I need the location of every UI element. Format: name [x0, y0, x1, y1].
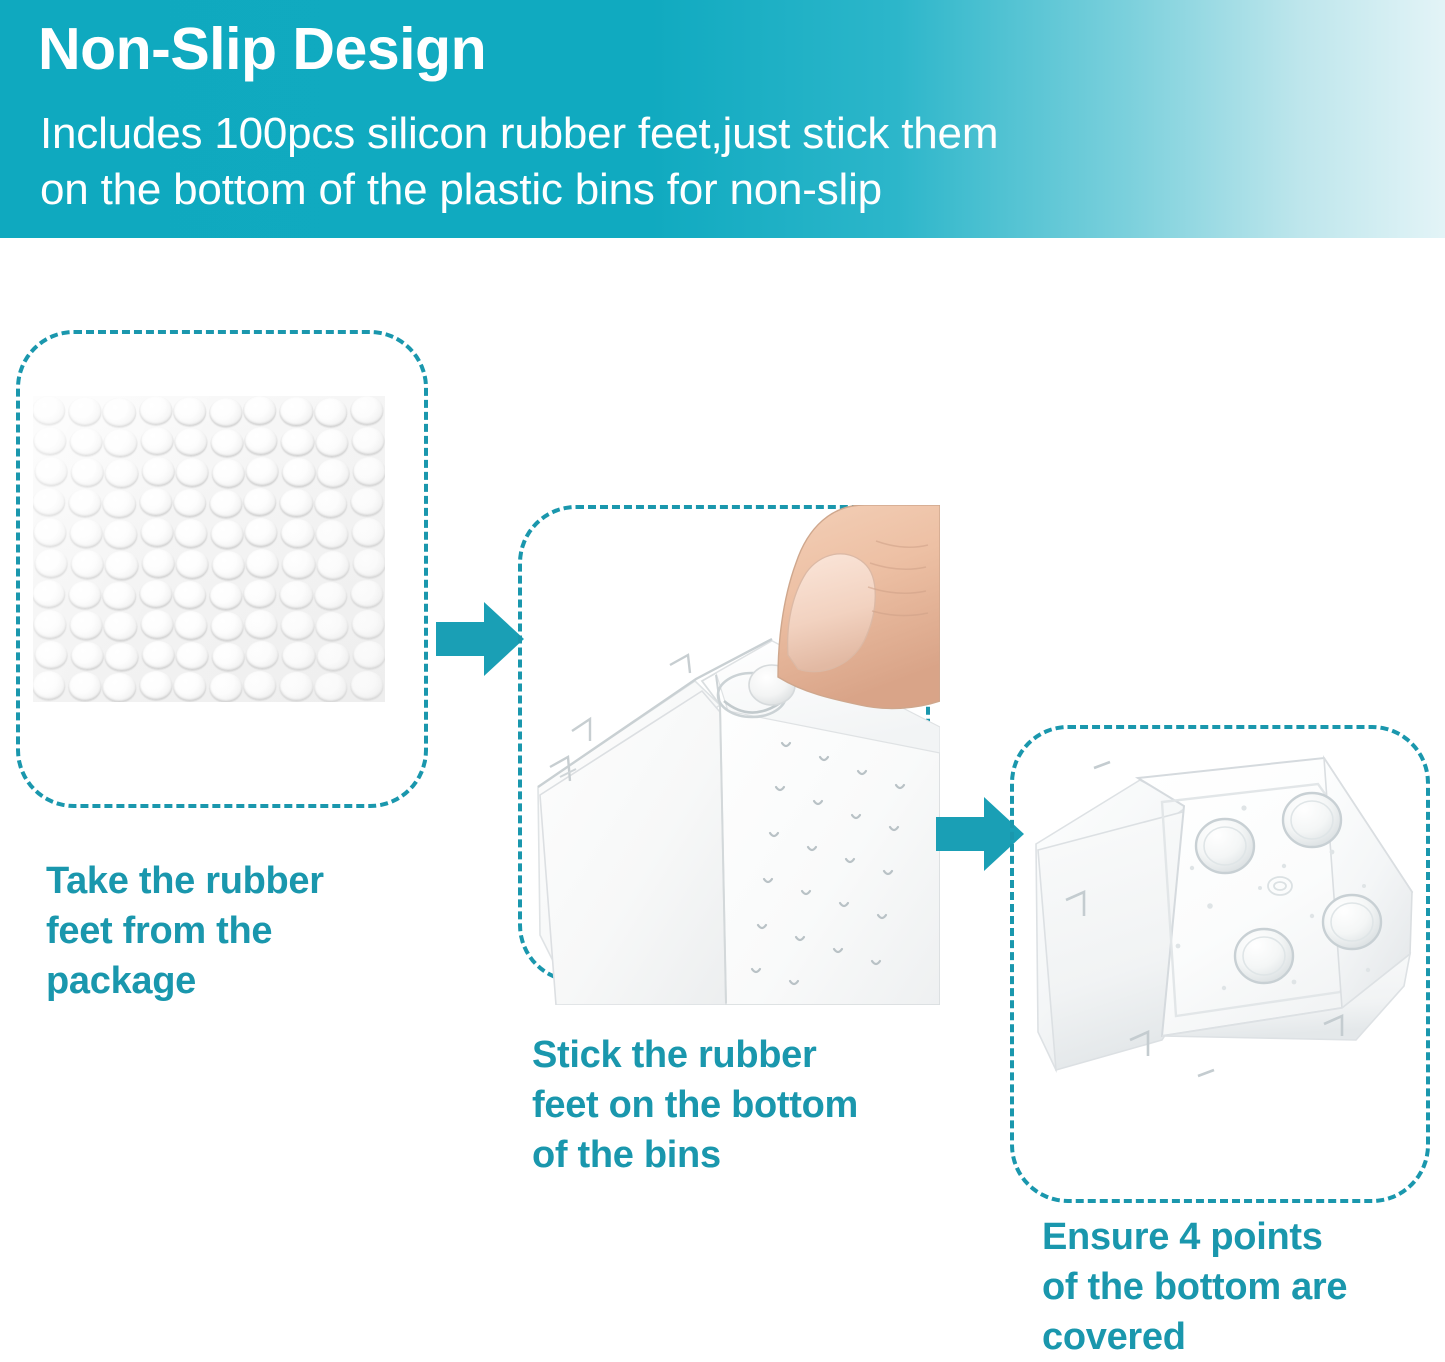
rubber-foot-dot	[280, 489, 313, 518]
rubber-foot-dot	[316, 551, 349, 580]
rubber-foot-dot	[209, 398, 242, 427]
rubber-foot-dot	[175, 642, 208, 671]
rubber-foot-dot	[33, 580, 65, 609]
rubber-foot-dot	[173, 581, 206, 610]
rubber-foot-dot	[314, 490, 347, 519]
rubber-foot-dot	[212, 459, 245, 488]
rubber-foot-dot	[35, 457, 68, 486]
rubber-foot-dot	[350, 580, 383, 609]
rubber-foot-dot	[173, 672, 206, 701]
rubber-foot-dot	[281, 611, 314, 640]
rubber-foot-dot	[69, 489, 102, 518]
rubber-foot-dot	[35, 641, 68, 670]
rubber-foot-dot	[105, 643, 138, 672]
rubber-foot-dot	[139, 396, 172, 425]
rubber-foot-dot	[314, 398, 347, 427]
step-1-caption-line-3: package	[46, 956, 446, 1006]
rubber-foot-dot	[71, 642, 104, 671]
rubber-foot-dot	[243, 671, 276, 700]
rubber-foot-dot	[139, 488, 172, 517]
rubber-foot-dot	[353, 641, 385, 670]
rubber-foot-dot	[209, 673, 242, 702]
rubber-foot-dot	[103, 490, 136, 519]
rubber-foot-dot	[211, 612, 244, 641]
rubber-foot-dot	[282, 642, 315, 671]
step-2-caption-line-2: feet on the bottom	[532, 1080, 962, 1130]
rubber-foot-dot	[212, 551, 245, 580]
banner-subtitle: Includes 100pcs silicon rubber feet,just…	[40, 106, 998, 218]
rubber-foot-dot	[314, 582, 347, 611]
rubber-foot-dot	[350, 671, 383, 700]
rubber-foot-dot	[104, 612, 137, 641]
step-2-caption-line-3: of the bins	[532, 1130, 962, 1180]
bin-with-four-feet-image	[1012, 740, 1432, 1200]
step-3-caption: Ensure 4 points of the bottom are covere…	[1042, 1212, 1445, 1362]
step-3-caption-line-1: Ensure 4 points	[1042, 1212, 1445, 1262]
rubber-foot-dot	[141, 457, 174, 486]
hand-sticking-foot-on-bin-image	[520, 505, 940, 1005]
rubber-foot-dot	[280, 581, 313, 610]
rubber-foot-dot	[246, 549, 279, 578]
rubber-foot-dot	[140, 427, 173, 456]
step-2-caption: Stick the rubber feet on the bottom of t…	[532, 1030, 962, 1180]
rubber-foot-dot	[70, 428, 103, 457]
rubber-foot-dot	[139, 580, 172, 609]
rubber-foot-dot	[103, 673, 136, 702]
arrow-step-1-to-2-icon	[436, 600, 524, 678]
rubber-foot-dot	[353, 549, 385, 578]
rubber-foot-dot	[69, 397, 102, 426]
rubber-foot-dot	[211, 520, 244, 549]
rubber-foot-dot	[175, 458, 208, 487]
rubber-foot-dot	[282, 458, 315, 487]
rubber-foot-dot	[243, 396, 276, 425]
rubber-foot-dot	[281, 519, 314, 548]
rubber-foot-dot	[103, 398, 136, 427]
bin-left-face	[538, 681, 732, 1005]
rubber-foot-dot	[140, 518, 173, 547]
rubber-foot-dot	[315, 520, 348, 549]
header-banner: Non-Slip Design Includes 100pcs silicon …	[0, 0, 1445, 238]
rubber-foot-dot	[33, 396, 65, 425]
rubber-foot-dot	[212, 643, 245, 672]
rubber-foot-dot	[350, 488, 383, 517]
rubber-foot-dot	[69, 581, 102, 610]
rubber-foot-dot	[141, 641, 174, 670]
rubber-foot-dot	[71, 458, 104, 487]
rubber-feet-sheet-image	[33, 396, 385, 702]
rubber-foot-dot	[33, 488, 65, 517]
rubber-foot-dot	[243, 488, 276, 517]
step-2-caption-line-1: Stick the rubber	[532, 1030, 962, 1080]
rubber-foot-dot	[351, 518, 384, 547]
rubber-foot-dot	[104, 520, 137, 549]
rubber-foot-dot	[353, 457, 385, 486]
rubber-foot-dot	[35, 549, 68, 578]
rubber-foot-dot	[314, 673, 347, 702]
step-1-caption: Take the rubber feet from the package	[46, 856, 446, 1006]
rubber-foot-dot	[71, 550, 104, 579]
rubber-foot-dot	[315, 612, 348, 641]
rubber-foot-dot	[316, 459, 349, 488]
rubber-foot-dot	[351, 427, 384, 456]
step-3-caption-line-3: covered	[1042, 1312, 1445, 1362]
rubber-foot-dot	[174, 428, 207, 457]
rubber-foot-dot	[33, 518, 66, 547]
hand-thumb	[778, 505, 940, 708]
rubber-foot-dot	[243, 580, 276, 609]
rubber-foot-dot	[350, 396, 383, 425]
rubber-foot-dot	[209, 582, 242, 611]
rubber-foot-dot	[70, 611, 103, 640]
rubber-foot-dot	[104, 429, 137, 458]
rubber-foot-dot	[173, 489, 206, 518]
rubber-foot-dot	[105, 551, 138, 580]
rubber-foot-dot	[174, 519, 207, 548]
rubber-foot-dot	[280, 397, 313, 426]
rubber-foot-dot	[282, 550, 315, 579]
rubber-foot-dot	[173, 397, 206, 426]
rubber-foot-dot	[33, 610, 66, 639]
rubber-foot-dot	[281, 428, 314, 457]
rubber-foot-dot	[211, 429, 244, 458]
rubber-foot-dot	[139, 671, 172, 700]
rubber-foot-dot	[245, 427, 278, 456]
rubber-foot-dot	[245, 610, 278, 639]
banner-subtitle-line-2: on the bottom of the plastic bins for no…	[40, 162, 998, 218]
rubber-foot-dot	[246, 641, 279, 670]
page-title: Non-Slip Design	[38, 14, 486, 84]
step-1-caption-line-2: feet from the	[46, 906, 446, 956]
rubber-foot-dot	[280, 672, 313, 701]
banner-subtitle-line-1: Includes 100pcs silicon rubber feet,just…	[40, 109, 998, 158]
step-3-caption-line-2: of the bottom are	[1042, 1262, 1445, 1312]
rubber-foot-dot	[33, 671, 65, 700]
rubber-foot-dot	[174, 611, 207, 640]
rubber-foot-dot	[69, 672, 102, 701]
rubber-foot-dot	[105, 459, 138, 488]
rubber-foot-dot	[245, 518, 278, 547]
rubber-foot-dot	[209, 490, 242, 519]
rubber-foot-dot	[141, 549, 174, 578]
rubber-feet-grid	[33, 396, 385, 702]
rubber-foot-dot	[70, 519, 103, 548]
rubber-foot-dot	[33, 427, 66, 456]
rubber-foot-dot	[140, 610, 173, 639]
rubber-foot-dot	[175, 550, 208, 579]
rubber-foot-dot	[316, 643, 349, 672]
rubber-foot-dot	[351, 610, 384, 639]
rubber-foot-dot	[315, 429, 348, 458]
rubber-foot-dot	[103, 582, 136, 611]
rubber-foot-dot	[246, 457, 279, 486]
step-1-caption-line-1: Take the rubber	[46, 856, 446, 906]
